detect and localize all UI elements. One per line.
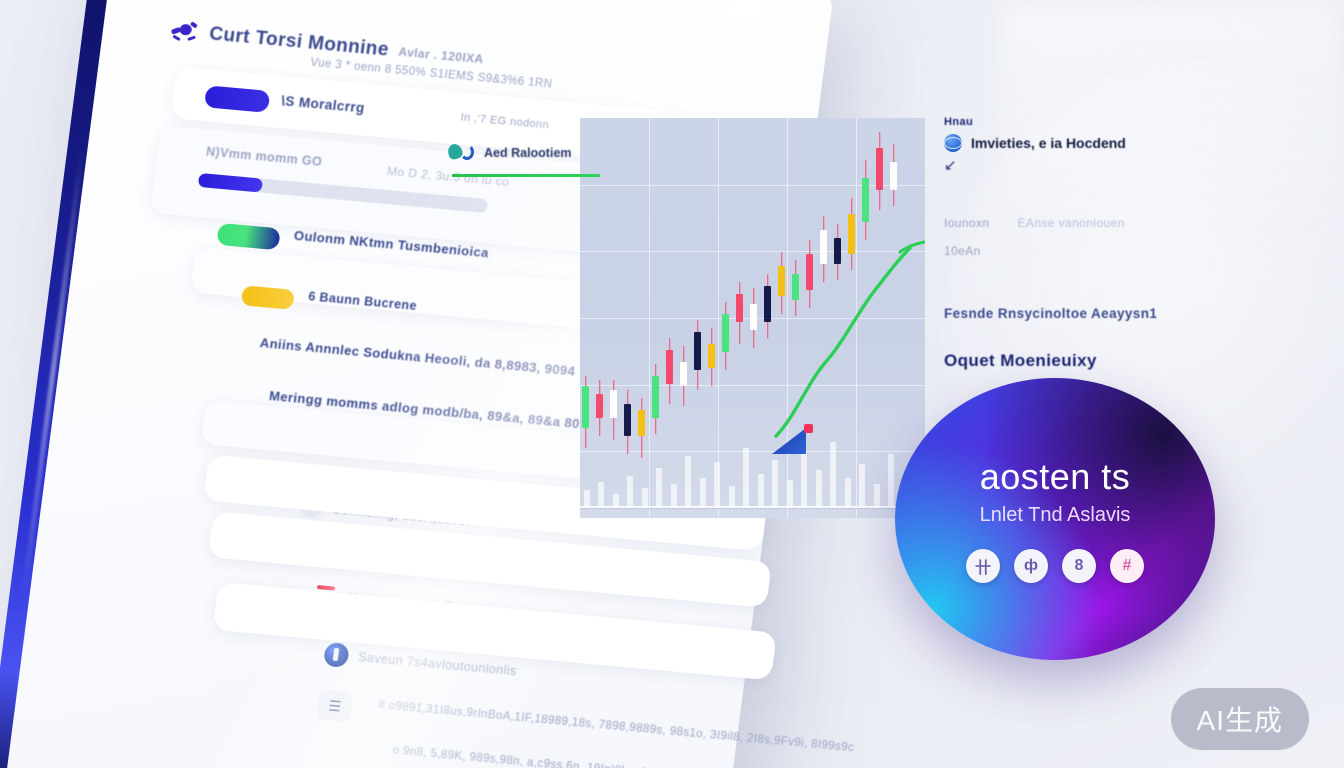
page-title: Curt Torsi Monnine (208, 23, 390, 61)
candle-body (820, 230, 827, 264)
chart-callout-label: Aed Ralootiem (484, 146, 572, 160)
right-sub-left: Iounoxn (944, 216, 990, 230)
right-headline-row: Imvieties, e ia Hocdend (944, 134, 1334, 152)
blue-avatar-icon (323, 642, 350, 668)
right-subrow: Iounoxn EAnse vanoniouen (944, 216, 1334, 230)
candle-body (848, 214, 855, 254)
candle-body (792, 274, 799, 300)
badge-icon-row: 卄 ф 8 # (966, 549, 1144, 583)
candle-body (750, 304, 757, 330)
candle-body (638, 410, 645, 436)
chart-callout-line (452, 174, 600, 177)
hash-icon[interactable]: # (1110, 549, 1144, 583)
candle-body (736, 294, 743, 322)
status-pill-warning[interactable] (241, 285, 295, 310)
candlestick (792, 118, 799, 518)
candle-body (652, 376, 659, 418)
candlestick (862, 118, 869, 518)
candle-body (666, 350, 673, 384)
right-kicker: Hnau (944, 116, 1334, 128)
candle-body (722, 314, 729, 352)
candlestick-chart[interactable] (580, 118, 925, 518)
chart-dotted-separator (580, 508, 925, 509)
candlestick (624, 118, 631, 518)
right-tag: Fesnde Rnsycinoltoe Aeayysn1 (944, 306, 1334, 321)
candlestick (680, 118, 687, 518)
candle-body (890, 162, 897, 190)
globe-icon (944, 134, 962, 152)
candlestick (736, 118, 743, 518)
candle-body (806, 254, 813, 290)
candlestick (596, 118, 603, 518)
page-subtitle: Avlar . 120IXA (398, 45, 485, 67)
candlestick (806, 118, 813, 518)
candlestick (778, 118, 785, 518)
infinity-icon[interactable]: 8 (1062, 549, 1096, 583)
candlestick (750, 118, 757, 518)
right-headline: Imvieties, e ia Hocdend (971, 135, 1126, 151)
candlestick (890, 118, 897, 518)
badge-subtitle: Lnlet Tnd Aslavis (980, 504, 1131, 527)
candlestick (694, 118, 701, 518)
ai-generated-watermark: AI生成 (1171, 688, 1309, 750)
candlestick (764, 118, 771, 518)
candlestick (610, 118, 617, 518)
candle-body (680, 362, 687, 386)
gradient-badge[interactable]: aosten ts Lnlet Tnd Aslavis 卄 ф 8 # (895, 378, 1215, 660)
candle-body (694, 332, 701, 370)
candle-body (876, 148, 883, 190)
candle-body (596, 394, 603, 418)
candle-body (708, 344, 715, 368)
candlestick (834, 118, 841, 518)
candle-body (624, 404, 631, 436)
candle-body (862, 178, 869, 222)
candlestick (722, 118, 729, 518)
candlestick (582, 118, 589, 518)
candle-body (582, 386, 589, 428)
candlestick (638, 118, 645, 518)
leaf-analytics-icon (448, 142, 476, 164)
row-5-label: Aniins Annnlec Sodukna Heooli, da 8,8983… (259, 335, 576, 379)
columns-icon[interactable]: ф (1014, 549, 1048, 583)
right-value: 10eAn (944, 244, 1334, 258)
candle-body (764, 286, 771, 322)
summary-block: ☰ (316, 690, 354, 723)
candlestick (876, 118, 883, 518)
candle-body (610, 390, 617, 418)
app-logo-icon (168, 18, 201, 47)
right-info-column: Hnau Imvieties, e ia Hocdend ↙ Iounoxn E… (944, 116, 1334, 371)
right-sub-right: EAnse vanoniouen (1018, 216, 1125, 230)
chart-callout[interactable]: Aed Ralootiem (448, 136, 638, 170)
candlestick (666, 118, 673, 518)
candlestick (708, 118, 715, 518)
candlestick (848, 118, 855, 518)
signature-icon[interactable]: 卄 (966, 549, 1000, 583)
candlestick (652, 118, 659, 518)
badge-title: aosten ts (980, 456, 1131, 498)
candle-body (778, 266, 785, 296)
checklist-icon: ☰ (316, 690, 354, 723)
status-pill-success[interactable] (216, 223, 281, 250)
candlestick (820, 118, 827, 518)
right-big-label: Oquet Moenieuixy (944, 351, 1334, 371)
arrow-down-left-icon: ↙ (944, 156, 1334, 174)
candle-body (834, 238, 841, 264)
